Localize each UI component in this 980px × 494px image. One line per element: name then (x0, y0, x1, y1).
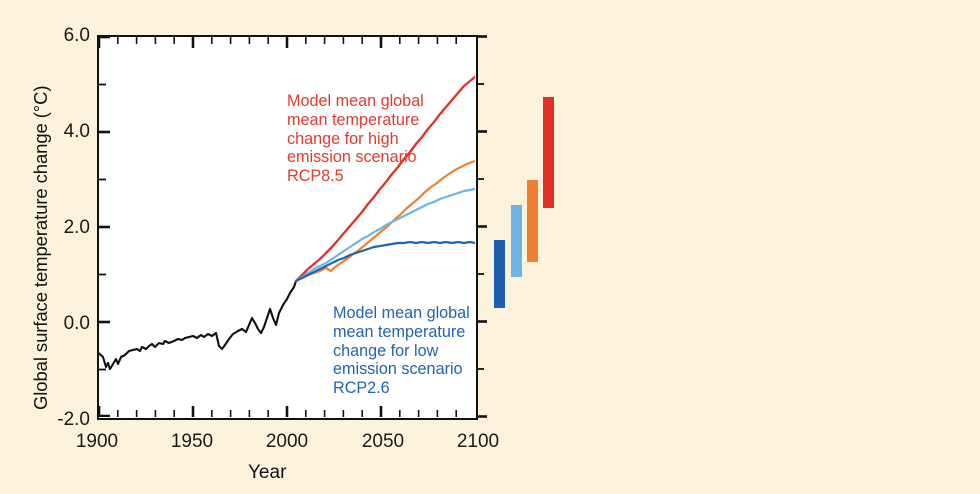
x-tick-label-2050: 2050 (343, 432, 423, 451)
y-tick-label-6: 6.0 (18, 26, 90, 45)
x-axis-title: Year (248, 462, 286, 484)
maps-panel: Possible temperature responses in 2081-2… (560, 0, 980, 494)
y-tick-label-minus2: -2.0 (18, 410, 90, 429)
y-tick-label-4: 4.0 (18, 122, 90, 141)
y-tick-label-2: 2.0 (18, 218, 90, 237)
uncertainty-bar-rcp26 (494, 240, 505, 308)
series-historical (99, 281, 296, 369)
uncertainty-bar-rcp60 (527, 180, 538, 262)
x-tick-label-2000: 2000 (247, 432, 327, 451)
timeseries-panel: Global surface temperature change (°C) 6… (0, 0, 520, 494)
x-tick-label-1900: 1900 (57, 432, 137, 451)
figure-root: Global surface temperature change (°C) 6… (0, 0, 980, 494)
x-tick-label-1950: 1950 (152, 432, 232, 451)
uncertainty-bar-rcp85 (543, 97, 554, 208)
y-tick-label-0: 0.0 (18, 314, 90, 333)
x-tick-label-2100: 2100 (438, 432, 518, 451)
series-rcp26 (296, 242, 475, 281)
annotation-rcp85: Model mean global mean temperature chang… (287, 92, 424, 186)
uncertainty-bar-rcp45 (511, 205, 522, 277)
right-axis-outer-ticks (478, 35, 492, 421)
annotation-rcp26: Model mean global mean temperature chang… (333, 304, 470, 398)
